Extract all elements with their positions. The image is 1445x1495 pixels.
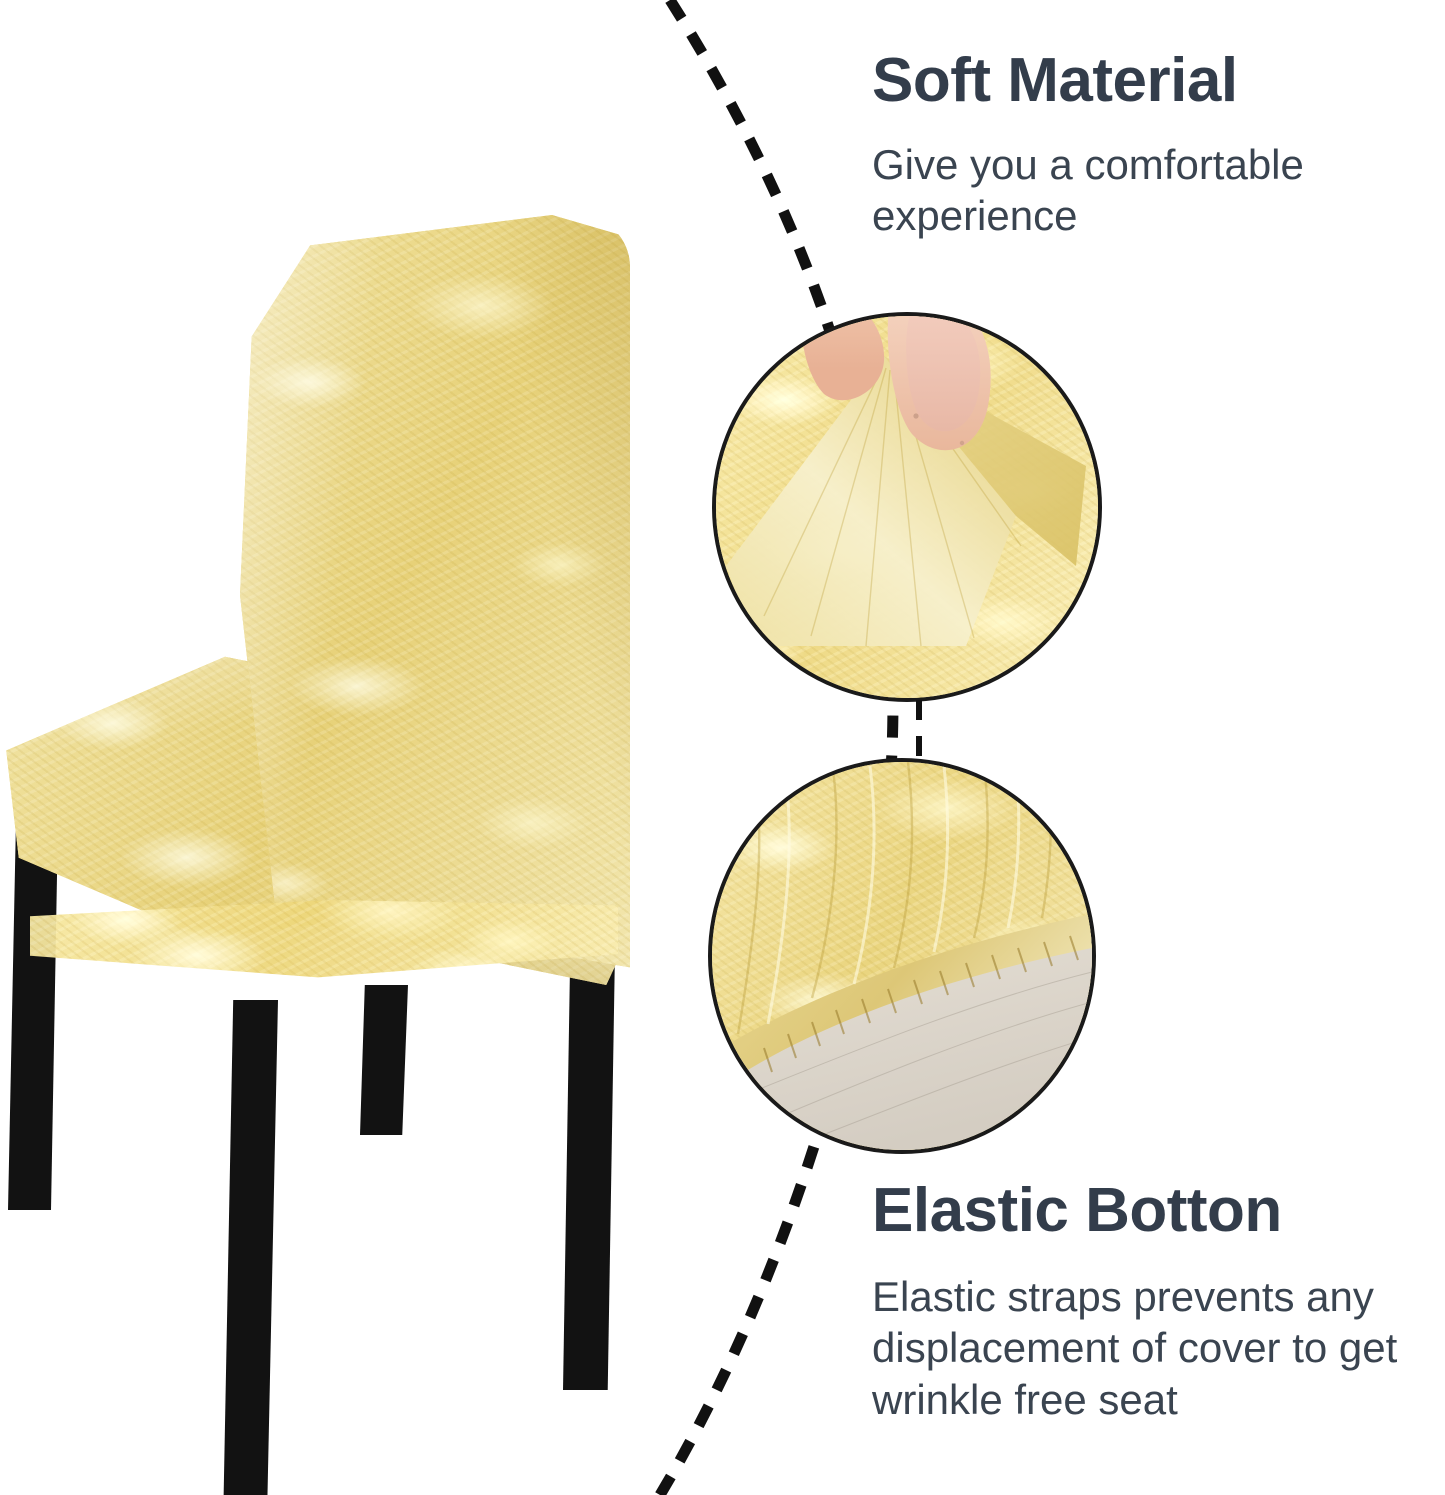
- soft-material-headline: Soft Material: [872, 48, 1392, 113]
- infographic-canvas: Soft Material Give you a comfortable exp…: [0, 0, 1445, 1495]
- soft-material-subtext: Give you a comfortable experience: [872, 139, 1392, 241]
- chair-illustration: [0, 210, 680, 1390]
- feature-block-soft-material: Soft Material Give you a comfortable exp…: [872, 48, 1392, 242]
- callout-elastic-botton: [708, 758, 1096, 1154]
- callout-soft-material: [712, 312, 1102, 702]
- dashed-connector-between-callouts: [916, 700, 922, 758]
- chair-cover-hem: [18, 900, 618, 990]
- chair-leg-back-left: [8, 820, 58, 1210]
- chair-leg-front-right: [563, 950, 615, 1390]
- elastic-botton-subtext: Elastic straps prevents any displacement…: [872, 1271, 1445, 1425]
- feature-block-elastic-botton: Elastic Botton Elastic straps prevents a…: [872, 1178, 1445, 1425]
- chair-leg-front-left: [222, 1000, 278, 1495]
- elastic-botton-headline: Elastic Botton: [872, 1178, 1445, 1243]
- chair-backrest: [240, 215, 630, 975]
- chair-leg-back-right: [360, 985, 408, 1135]
